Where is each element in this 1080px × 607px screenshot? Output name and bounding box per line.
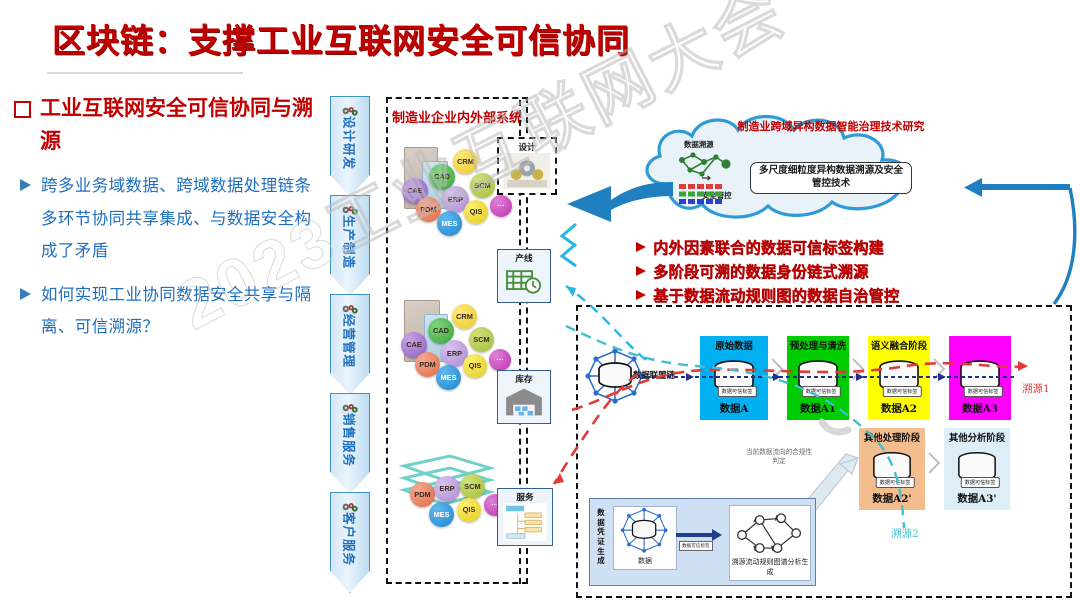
- arrow-bullet-icon: [636, 242, 646, 252]
- app-circle[interactable]: QIS: [464, 200, 488, 224]
- inset-side-label: 数据凭证生成: [594, 508, 608, 566]
- red-bullet-row: 基于数据流动规则图的数据自治管控: [636, 284, 899, 306]
- arrow-bullet-icon: [20, 179, 31, 191]
- chevron-right-icon: [852, 358, 865, 380]
- node-label: 设计: [499, 141, 555, 153]
- service-chart-icon: [502, 503, 548, 541]
- title-divider: [47, 72, 243, 74]
- inset-dag-panel: 溯源流动规则图谱分析生成: [729, 505, 811, 581]
- red-bullet-row: 内外因素联合的数据可信标签构建: [636, 236, 899, 258]
- trust-tag: 数据可信标签: [802, 386, 841, 397]
- blockchain-ring-icon: [616, 507, 674, 557]
- stage-item-1[interactable]: 生产制造: [330, 195, 370, 296]
- cyan-double-chevron-icon: [556, 222, 582, 268]
- lifecycle-stage-bar: 设计研发 生产制造 经营管理: [330, 96, 370, 594]
- pipeline-stage-1[interactable]: 预处理与清洗 数据可信标签 数据A1: [787, 336, 849, 420]
- cloud-to-enterprise-arrow-icon: [555, 176, 675, 224]
- trust-tag: 数据可信标签: [883, 386, 922, 397]
- pipeline-stage-name: 数据A1: [787, 400, 849, 415]
- node-box-design[interactable]: 设计: [497, 137, 557, 195]
- app-circle[interactable]: SCM: [470, 173, 495, 198]
- red-bullet-text: 基于数据流动规则图的数据自治管控: [653, 284, 899, 306]
- stage-label: 销售服务: [341, 413, 360, 467]
- page-title: 区块链：支撑工业互联网安全可信协同: [52, 14, 630, 62]
- stage-label: 设计研发: [341, 116, 360, 170]
- app-circle[interactable]: ···: [489, 349, 511, 371]
- trace-label-2: 溯源2: [891, 526, 919, 541]
- inset-arrow-icon: [676, 528, 724, 542]
- chevron-right-icon: [928, 452, 941, 474]
- arrow-bullet-icon: [20, 288, 31, 300]
- gears-photo-icon: [503, 153, 551, 189]
- trace-label-1: 溯源1: [1022, 381, 1050, 396]
- app-circle[interactable]: CRM: [452, 304, 477, 329]
- app-circle[interactable]: PDM: [410, 482, 435, 507]
- trust-tag: 数据可信标签: [718, 386, 757, 397]
- stage-item-3[interactable]: 销售服务: [330, 393, 370, 494]
- red-bullet-row: 多阶段可溯的数据身份链式溯源: [636, 260, 899, 282]
- app-circle[interactable]: CRM: [453, 149, 478, 174]
- red-bullet-text: 内外因素联合的数据可信标签构建: [653, 236, 884, 258]
- inset-node-label: 数据: [614, 556, 676, 566]
- branch-stage-name: 数据A3': [944, 490, 1010, 505]
- stage-label: 经营管理: [341, 314, 360, 368]
- security-matrix-icon: [678, 183, 730, 207]
- left-heading-row: 工业互联网安全可信协同与溯源: [14, 92, 314, 158]
- red-dashed-return-arrow: [534, 370, 644, 500]
- pipeline-stage-0[interactable]: 原始数据 数据可信标签 数据A: [700, 336, 768, 420]
- red-bullet-text: 多阶段可溯的数据身份链式溯源: [653, 260, 868, 282]
- trust-tag: 数据可信标签: [961, 477, 1000, 488]
- enterprise-title: 制造业企业内外部系统: [392, 110, 522, 128]
- inset-node-panel: 数据: [613, 506, 677, 570]
- left-bullet-text: 跨多业务域数据、跨域数据处理链条多环节协同共享集成、与数据安全构成了矛盾: [41, 170, 314, 267]
- pipeline-stage-name: 数据A: [700, 400, 768, 415]
- inset-dag-caption: 溯源流动规则图谱分析生成: [730, 557, 810, 577]
- app-circle[interactable]: MES: [436, 365, 461, 390]
- cyan-dashed-arrow: [540, 280, 650, 370]
- inset-arrow-tag: 数据可信标签: [679, 541, 713, 551]
- chevron-right-icon: [771, 358, 784, 380]
- dag-graph-icon: [731, 507, 809, 563]
- cloud-inner-box: 多尺度细粒度异构数据溯源及安全管控技术: [750, 162, 912, 194]
- square-bullet-icon: [14, 101, 31, 118]
- left-text-panel: 工业互联网安全可信协同与溯源 跨多业务域数据、跨域数据处理链条多环节协同共享集成…: [14, 92, 314, 343]
- trust-tag: 数据可信标签: [876, 477, 915, 488]
- app-circle[interactable]: ···: [490, 195, 512, 217]
- left-heading: 工业互联网安全可信协同与溯源: [40, 92, 314, 158]
- cloud-return-curve: [1020, 186, 1080, 316]
- branch-stage-title: 其他处理阶段: [859, 433, 925, 445]
- app-circle[interactable]: MES: [437, 211, 462, 236]
- app-circle[interactable]: MES: [429, 502, 454, 527]
- app-circle[interactable]: QIS: [463, 354, 487, 378]
- stage-item-4[interactable]: 客户服务: [330, 492, 370, 593]
- stage-item-2[interactable]: 经营管理: [330, 294, 370, 395]
- pipeline-stage-2[interactable]: 语义融合阶段 数据可信标签 数据A2: [868, 336, 930, 420]
- pipeline-stage-3[interactable]: 数据可信标签 数据A3: [949, 336, 1011, 420]
- stage-item-0[interactable]: 设计研发: [330, 96, 370, 197]
- left-bullet-2: 如何实现工业协同数据安全共享与隔离、可信溯源？: [14, 279, 314, 343]
- cloud-title: 制造业跨域异构数据智能治理技术研究: [722, 120, 940, 134]
- trust-tag: 数据可信标签: [964, 386, 1003, 397]
- stage-label: 客户服务: [341, 512, 360, 566]
- left-bullet-text: 如何实现工业协同数据安全共享与隔离、可信溯源？: [41, 279, 314, 343]
- branch-stage-title: 其他分析阶段: [944, 433, 1010, 445]
- stage-label: 生产制造: [341, 215, 360, 269]
- node-label: 产线: [498, 252, 550, 264]
- pipeline-stage-title: 原始数据: [700, 341, 768, 353]
- app-circle[interactable]: SCM: [460, 474, 485, 499]
- network-graph-icon: [676, 150, 734, 180]
- pipeline-stage-title: 预处理与清洗: [787, 341, 849, 353]
- pipeline-stage-name: 数据A2: [868, 400, 930, 415]
- branch-stage-1[interactable]: 其他分析阶段 数据可信标签 数据A3': [944, 428, 1010, 510]
- arrow-bullet-icon: [636, 266, 646, 276]
- pipeline-stage-title: 语义融合阶段: [868, 341, 930, 353]
- chevron-right-icon: [933, 358, 946, 380]
- app-circle[interactable]: QIS: [457, 498, 481, 522]
- app-circle[interactable]: ERP: [434, 476, 460, 502]
- left-bullet-1: 跨多业务域数据、跨域数据处理链条多环节协同共享集成、与数据安全构成了矛盾: [14, 170, 314, 267]
- slide-root: 区块链：支撑工业互联网安全可信协同 工业互联网安全可信协同与溯源 跨多业务域数据…: [0, 0, 1080, 607]
- red-bullet-list: 内外因素联合的数据可信标签构建 多阶段可溯的数据身份链式溯源 基于数据流动规则图…: [636, 236, 899, 308]
- cloud-label-traceability: 数据溯源: [684, 139, 714, 150]
- pipeline-stage-name: 数据A3: [949, 400, 1011, 415]
- app-circle[interactable]: SCM: [469, 327, 494, 352]
